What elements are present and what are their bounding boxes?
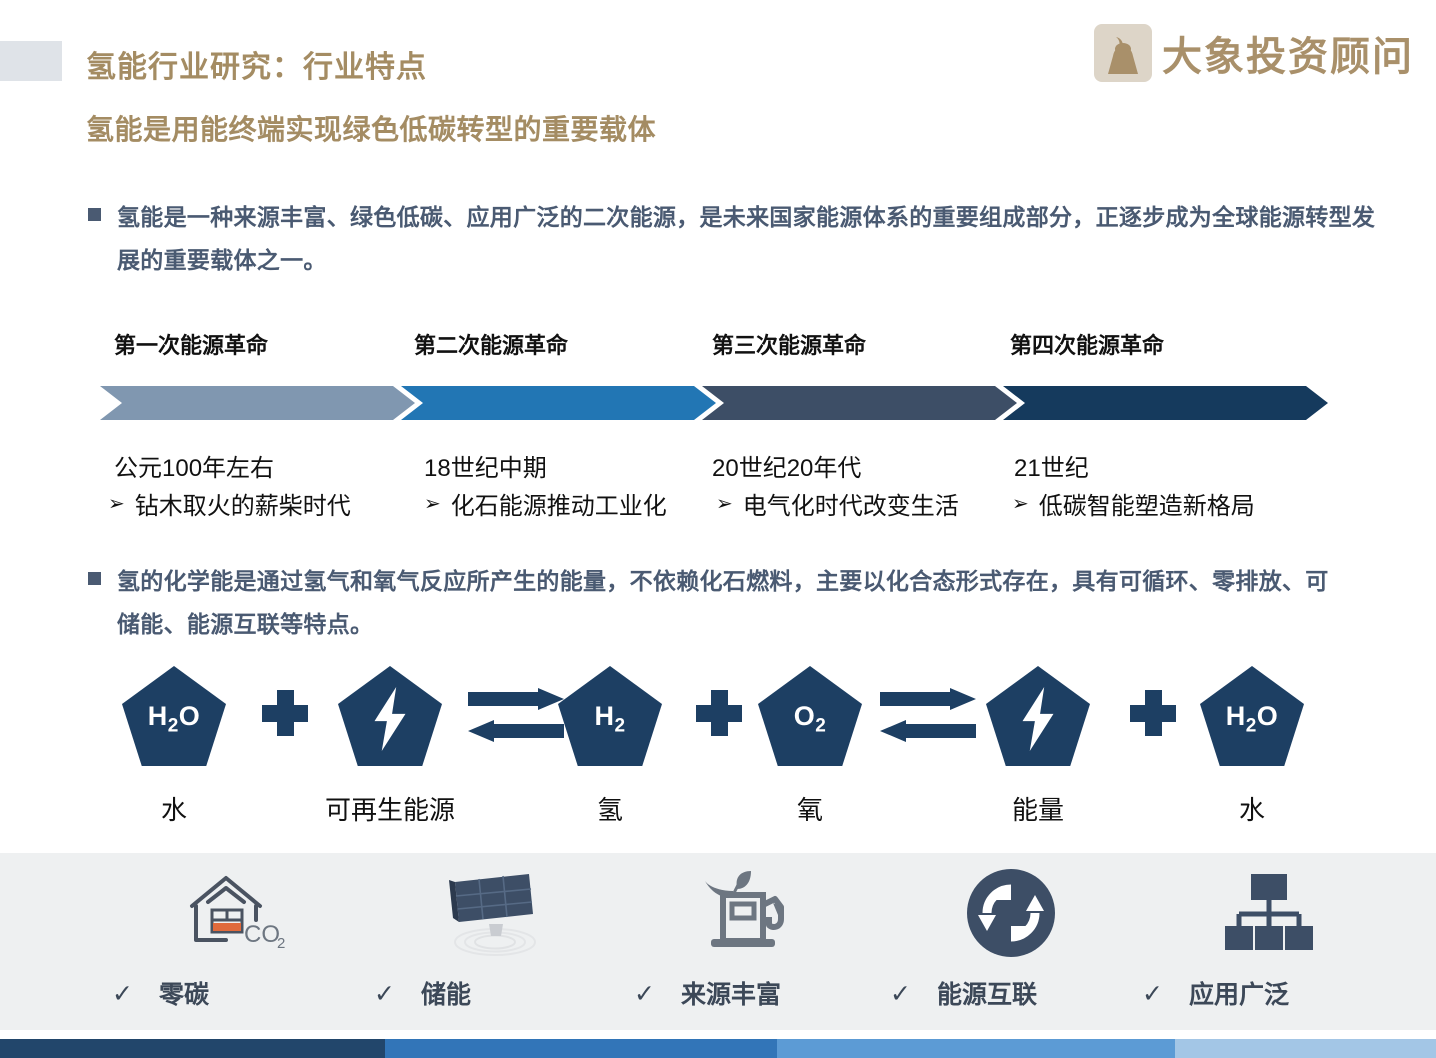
- bullet-text-2: 氢的化学能是通过氢气和氧气反应所产生的能量，不依赖化石燃料，主要以化合态形式存在…: [117, 560, 1338, 646]
- reaction-caption-water-left: 水: [122, 790, 226, 827]
- formula-o2: O2: [794, 701, 827, 737]
- square-bullet-icon: [88, 572, 101, 585]
- slide-root: 氢能行业研究：行业特点 大象投资顾问 氢能是用能终端实现绿色低碳转型的重要载体 …: [0, 0, 1436, 1058]
- fuel-pump-leaf-icon: [694, 867, 804, 959]
- check-icon: ✓: [634, 979, 655, 1008]
- reaction-caption-water-right: 水: [1200, 790, 1304, 827]
- reaction-node-water-left: H2O: [122, 666, 226, 766]
- fuel-pump-leaf-glyph: [695, 869, 803, 957]
- footer-segment-2: [385, 1039, 777, 1058]
- bullet-paragraph-1: 氢能是一种来源丰富、绿色低碳、应用广泛的二次能源，是未来国家能源体系的重要组成部…: [88, 196, 1378, 282]
- timeline-point-text-3: 电气化时代改变生活: [743, 486, 959, 521]
- timeline-arrow: [100, 386, 1328, 420]
- water-molecule-pentagon: H2O: [122, 666, 226, 766]
- house-co2-icon: CO 2: [179, 867, 289, 959]
- network-hierarchy-icon: [1213, 867, 1323, 959]
- reaction-caption-oxygen: 氧: [758, 790, 862, 827]
- reaction-node-energy: [986, 666, 1090, 766]
- bullet-text-1: 氢能是一种来源丰富、绿色低碳、应用广泛的二次能源，是未来国家能源体系的重要组成部…: [117, 196, 1378, 282]
- feature-label-row: ✓ 能源互联: [876, 975, 1146, 1011]
- timeline-point-text-4: 低碳智能塑造新格局: [1039, 486, 1255, 521]
- elephant-glyph: [1106, 35, 1140, 75]
- square-bullet-icon: [88, 208, 101, 221]
- feature-label-row: ✓ 来源丰富: [614, 975, 884, 1011]
- lightning-bolt-pentagon: [986, 666, 1090, 766]
- reaction-node-oxygen: O2: [758, 666, 862, 766]
- chevron-right-icon: ➢: [108, 491, 125, 516]
- plus-icon: [262, 690, 308, 736]
- timeline-era-4: 21世纪: [1014, 448, 1089, 483]
- recycle-arrows-glyph: [965, 867, 1057, 959]
- feature-label-energy-interconnect: 能源互联: [937, 975, 1037, 1011]
- reaction-caption-hydrogen: 氢: [558, 790, 662, 827]
- check-icon: ✓: [374, 979, 395, 1008]
- timeline-label-4: 第四次能源革命: [1010, 328, 1164, 360]
- timeline-point-3: ➢ 电气化时代改变生活: [716, 486, 959, 521]
- chevron-right-icon: ➢: [424, 491, 441, 516]
- feature-item-zero-carbon[interactable]: CO 2 ✓ 零碳: [94, 853, 374, 1030]
- feature-label-row: ✓ 零碳: [94, 975, 374, 1011]
- feature-label-storage: 储能: [421, 975, 471, 1011]
- timeline-chevron-2: [401, 386, 716, 420]
- reaction-node-renewable: [338, 666, 442, 766]
- reaction-diagram: H2O 水 可再生能源 H2 氢: [0, 666, 1436, 836]
- energy-cycle-icon: [956, 867, 1066, 959]
- org-chart-glyph: [1220, 870, 1316, 956]
- page-title: 氢能行业研究：行业特点: [86, 42, 427, 86]
- feature-label-wide-application: 应用广泛: [1189, 975, 1289, 1011]
- reaction-caption-energy: 能量: [976, 790, 1100, 827]
- reaction-node-hydrogen: H2: [558, 666, 662, 766]
- check-icon: ✓: [1142, 979, 1163, 1008]
- timeline-point-4: ➢ 低碳智能塑造新格局: [1012, 486, 1255, 521]
- header-accent-block: [0, 41, 62, 81]
- formula-h2o: H2O: [1226, 701, 1279, 737]
- oxygen-pentagon: O2: [758, 666, 862, 766]
- feature-label-row: ✓ 储能: [360, 975, 620, 1011]
- timeline-label-2: 第二次能源革命: [414, 328, 568, 360]
- timeline-era-3: 20世纪20年代: [712, 448, 861, 483]
- timeline-chevron-4: [1003, 386, 1328, 420]
- footer-segment-1: [0, 1039, 385, 1058]
- feature-label-abundant-source: 来源丰富: [681, 975, 781, 1011]
- reaction-node-water-right: H2O: [1200, 666, 1304, 766]
- feature-bar: CO 2 ✓ 零碳: [0, 853, 1436, 1030]
- feature-label-zero-carbon: 零碳: [159, 975, 209, 1011]
- water-molecule-pentagon: H2O: [1200, 666, 1304, 766]
- formula-h2o: H2O: [148, 701, 201, 737]
- double-arrow-icon: [468, 688, 564, 746]
- reversible-reaction-arrows: [468, 688, 564, 746]
- check-icon: ✓: [890, 979, 911, 1008]
- feature-label-row: ✓ 应用广泛: [1128, 975, 1408, 1011]
- lightning-bolt-pentagon: [338, 666, 442, 766]
- solar-panel-glyph: [437, 868, 543, 958]
- timeline-point-2: ➢ 化石能源推动工业化: [424, 486, 667, 521]
- feature-item-wide-application[interactable]: ✓ 应用广泛: [1128, 853, 1408, 1030]
- formula-h2: H2: [594, 701, 625, 737]
- reaction-caption-renewable: 可再生能源: [308, 790, 472, 827]
- chevron-right-icon: ➢: [716, 491, 733, 516]
- timeline-label-1: 第一次能源革命: [114, 328, 268, 360]
- svg-text:2: 2: [277, 935, 285, 952]
- house-co2-glyph: CO 2: [182, 870, 286, 956]
- timeline-label-3: 第三次能源革命: [712, 328, 866, 360]
- page-subtitle: 氢能是用能终端实现绿色低碳转型的重要载体: [86, 108, 656, 148]
- brand-logo: 大象投资顾问: [1094, 24, 1414, 82]
- brand-name: 大象投资顾问: [1162, 24, 1414, 82]
- timeline-chevron-1: [100, 386, 415, 420]
- feature-item-storage[interactable]: ✓ 储能: [360, 853, 620, 1030]
- reversible-reaction-arrows: [880, 688, 976, 746]
- footer-color-bar: [0, 1039, 1436, 1058]
- chevron-right-icon: ➢: [1012, 491, 1029, 516]
- plus-icon: [696, 690, 742, 736]
- svg-text:CO: CO: [244, 921, 280, 948]
- lightning-bolt-icon: [368, 687, 412, 751]
- feature-item-abundant-source[interactable]: ✓ 来源丰富: [614, 853, 884, 1030]
- timeline-point-text-1: 钻木取火的薪柴时代: [135, 486, 351, 521]
- check-icon: ✓: [112, 979, 133, 1008]
- footer-segment-3: [777, 1039, 1175, 1058]
- plus-icon: [1130, 690, 1176, 736]
- feature-item-energy-interconnect[interactable]: ✓ 能源互联: [876, 853, 1146, 1030]
- timeline-era-1: 公元100年左右: [114, 448, 274, 483]
- timeline-chevron-3: [702, 386, 1017, 420]
- elephant-icon: [1094, 24, 1152, 82]
- timeline-point-text-2: 化石能源推动工业化: [451, 486, 667, 521]
- footer-segment-4: [1175, 1039, 1436, 1058]
- hydrogen-pentagon: H2: [558, 666, 662, 766]
- timeline-labels: 第一次能源革命 第二次能源革命 第三次能源革命 第四次能源革命: [0, 328, 1436, 362]
- double-arrow-icon: [880, 688, 976, 746]
- timeline-era-2: 18世纪中期: [424, 448, 547, 483]
- timeline-descriptions: 公元100年左右 ➢ 钻木取火的薪柴时代 18世纪中期 ➢ 化石能源推动工业化 …: [0, 448, 1436, 528]
- lightning-bolt-icon: [1016, 687, 1060, 751]
- solar-panel-icon: [435, 867, 545, 959]
- timeline-point-1: ➢ 钻木取火的薪柴时代: [108, 486, 351, 521]
- bullet-paragraph-2: 氢的化学能是通过氢气和氧气反应所产生的能量，不依赖化石燃料，主要以化合态形式存在…: [88, 560, 1338, 646]
